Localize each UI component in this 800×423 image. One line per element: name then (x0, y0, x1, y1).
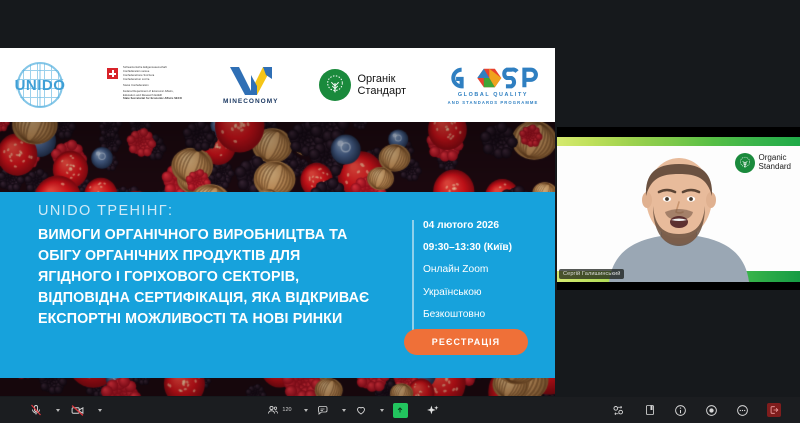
unido-logo-text: UNIDO (15, 78, 66, 93)
organic-standard-line1: Органік (357, 73, 406, 85)
notes-button[interactable] (634, 398, 665, 422)
meeting-info-button[interactable] (665, 398, 696, 422)
leave-meeting-icon (767, 403, 781, 417)
virtual-background-top-bar (557, 137, 800, 146)
swiss-line: Swiss Confederation (123, 84, 182, 88)
participant-video-tile[interactable]: Organic Standard (557, 127, 800, 290)
camera-muted-icon (71, 404, 84, 417)
event-platform: Онлайн Zoom (423, 264, 537, 275)
organic-standard-logo: Органік Стандарт (319, 69, 406, 101)
toolbar-right-group (603, 398, 790, 422)
organic-standard-tree-icon (319, 69, 351, 101)
leave-button[interactable] (758, 398, 790, 422)
heart-icon (355, 404, 368, 417)
swiss-flag-icon (107, 68, 118, 79)
chat-button[interactable] (308, 398, 339, 422)
event-time: 09:30–13:30 (Київ) (423, 242, 537, 253)
gosp-subtitle-2: AND STANDARDS PROGRAMME (448, 100, 539, 105)
mute-button[interactable] (20, 398, 51, 422)
participant-webcam-image (557, 154, 800, 282)
mineconomy-logo: MINECONOMY (223, 65, 279, 105)
slide-blue-panel: UNIDO ТРЕНІНГ: ВИМОГИ ОРГАНІЧНОГО ВИРОБН… (0, 192, 555, 378)
registration-button[interactable]: РЕЄСТРАЦІЯ (404, 329, 528, 355)
toolbar-left-group (20, 398, 102, 422)
reactions-button[interactable] (346, 398, 377, 422)
record-button[interactable] (696, 398, 727, 422)
ellipsis-circle-icon (736, 404, 749, 417)
chat-bubble-icon (317, 404, 330, 417)
event-date: 04 лютого 2026 (423, 220, 537, 231)
event-price: Безкоштовно (423, 309, 537, 320)
swiss-confederation-logo: Schweizerische Eidgenossenschaft Confédé… (107, 66, 182, 103)
toolbar-center-group: 120 (257, 398, 447, 422)
participants-icon (266, 404, 279, 417)
organic-standard-line2: Стандарт (357, 85, 406, 97)
gosp-logo: GLOBAL QUALITY AND STANDARDS PROGRAMME (447, 66, 539, 105)
slide-logo-bar: UNIDO Schweizerische Eidgenossenschaft C… (0, 48, 555, 122)
video-options-caret[interactable] (98, 409, 102, 412)
zoom-meeting-window: UNIDO Schweizerische Eidgenossenschaft C… (0, 0, 800, 423)
audio-options-caret[interactable] (56, 409, 60, 412)
share-screen-button[interactable] (384, 398, 417, 422)
breakout-rooms-icon (612, 404, 625, 417)
breakout-rooms-button[interactable] (603, 398, 634, 422)
shared-screen-slide: UNIDO Schweizerische Eidgenossenschaft C… (0, 48, 555, 396)
gosp-mark-icon (447, 66, 539, 90)
event-language: Українською (423, 287, 537, 298)
slide-info-block: 04 лютого 2026 09:30–13:30 (Київ) Онлайн… (412, 220, 537, 331)
unido-logo: UNIDO (14, 61, 66, 109)
slide-kicker: UNIDO ТРЕНІНГ: (38, 203, 173, 219)
swiss-line: Confederaziun svizra (123, 78, 182, 82)
swiss-line: State Secretariat for Economic Affairs S… (123, 97, 182, 101)
info-circle-icon (674, 404, 687, 417)
window-top-area (0, 0, 800, 48)
participants-count: 120 (282, 407, 291, 413)
video-button[interactable] (62, 398, 93, 422)
slide-headline: ВИМОГИ ОРГАНІЧНОГО ВИРОБНИЦТВА ТА ОБІГУ … (38, 225, 378, 330)
ai-companion-button[interactable] (417, 398, 448, 422)
mineconomy-mark-icon (230, 65, 272, 95)
notes-icon (643, 404, 656, 417)
gosp-subtitle-1: GLOBAL QUALITY (458, 92, 528, 98)
participant-name-tag: Сергій Галишинський (559, 269, 624, 279)
mineconomy-logo-text: MINECONOMY (223, 98, 279, 105)
participants-button[interactable]: 120 (257, 398, 300, 422)
meeting-toolbar: 120 (0, 397, 800, 423)
share-screen-icon (393, 403, 408, 418)
microphone-muted-icon (29, 404, 42, 417)
sparkle-icon (426, 404, 439, 417)
record-circle-icon (705, 404, 718, 417)
more-button[interactable] (727, 398, 758, 422)
